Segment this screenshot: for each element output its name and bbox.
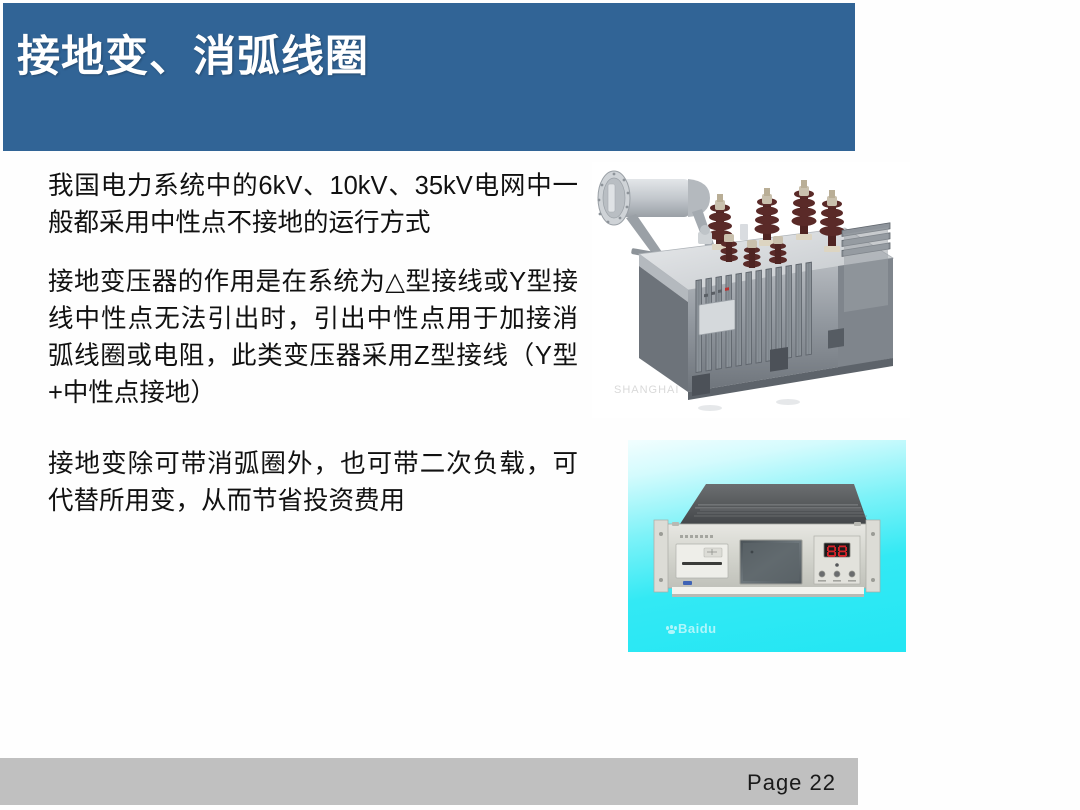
paragraph-3: 接地变除可带消弧圈外，也可带二次负载，可代替所用变，从而节省投资费用 [48, 446, 578, 520]
footer-bar: Page 22 [0, 758, 858, 805]
title-banner: 接地变、消弧线圈 [3, 3, 855, 151]
transformer-illustration [592, 162, 910, 418]
page-title: 接地变、消弧线圈 [17, 31, 369, 85]
baidu-watermark: Baidu [666, 621, 717, 636]
paw-icon [666, 625, 677, 634]
transformer-photo: SHANGHAI [592, 162, 910, 418]
device-photo: Baidu [628, 440, 906, 652]
page-number-label: Page 22 [747, 770, 836, 796]
body-text-column: 我国电力系统中的6kV、10kV、35kV电网中一般都采用中性点不接地的运行方式… [48, 168, 578, 520]
transformer-watermark: SHANGHAI [614, 384, 679, 396]
paragraph-2: 接地变压器的作用是在系统为△型接线或Y型接线中性点无法引出时，引出中性点用于加接… [48, 264, 578, 412]
slide-canvas: 接地变、消弧线圈 我国电力系统中的6kV、10kV、35kV电网中一般都采用中性… [0, 0, 1080, 810]
paragraph-1: 我国电力系统中的6kV、10kV、35kV电网中一般都采用中性点不接地的运行方式 [48, 168, 578, 242]
baidu-watermark-text: Baidu [678, 621, 717, 636]
